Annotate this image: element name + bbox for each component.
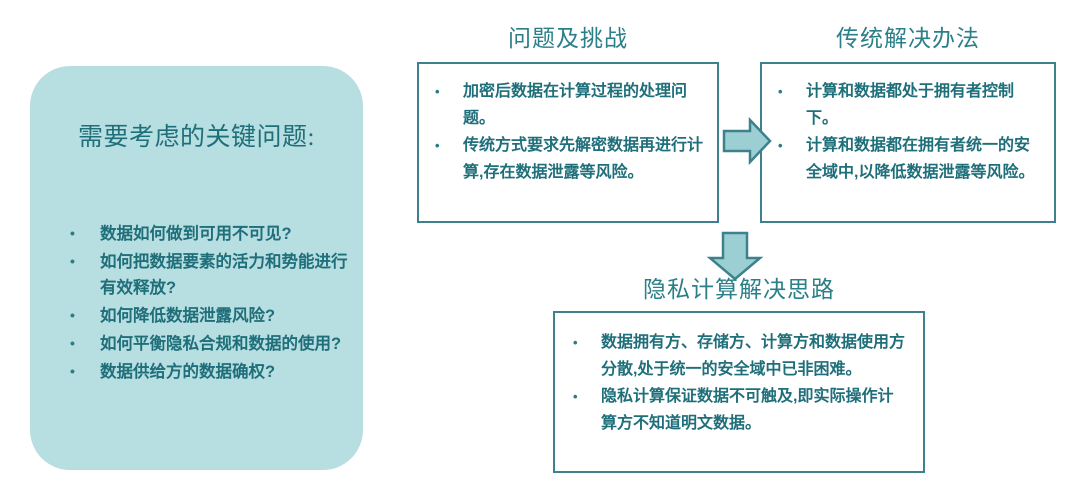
privacy-box-heading: 隐私计算解决思路 [553,275,925,305]
traditional-box-heading: 传统解决办法 [760,24,1056,54]
traditional-box: 计算和数据都处于拥有者控制下。 计算和数据都在拥有者统一的安全域中,以降低数据泄… [760,62,1056,223]
problem-box-heading: 问题及挑战 [417,24,719,54]
list-item: 计算和数据都在拥有者统一的安全域中,以降低数据泄露等风险。 [772,132,1042,186]
privacy-box: 数据拥有方、存储方、计算方和数据使用方分散,处于统一的安全域中已非困难。 隐私计… [553,311,925,473]
list-item: 加密后数据在计算过程的处理问题。 [429,78,705,132]
list-item: 数据拥有方、存储方、计算方和数据使用方分散,处于统一的安全域中已非困难。 [567,329,909,383]
key-questions-panel: 需要考虑的关键问题: 数据如何做到可用不可见? 如何把数据要素的活力和势能进行有… [30,66,363,470]
list-item: 数据供给方的数据确权? [68,359,353,385]
list-item: 隐私计算保证数据不可触及,即实际操作计算方不知道明文数据。 [567,383,909,437]
list-item: 数据如何做到可用不可见? [68,221,353,247]
key-questions-title: 需要考虑的关键问题: [30,122,363,154]
traditional-list: 计算和数据都处于拥有者控制下。 计算和数据都在拥有者统一的安全域中,以降低数据泄… [772,78,1042,186]
list-item: 如何把数据要素的活力和势能进行有效释放? [68,249,353,301]
list-item: 如何平衡隐私合规和数据的使用? [68,331,353,357]
key-questions-list: 数据如何做到可用不可见? 如何把数据要素的活力和势能进行有效释放? 如何降低数据… [68,221,353,387]
slide-canvas: 需要考虑的关键问题: 数据如何做到可用不可见? 如何把数据要素的活力和势能进行有… [0,0,1080,500]
arrow-down-icon [706,231,764,281]
list-item: 计算和数据都处于拥有者控制下。 [772,78,1042,132]
problem-box: 加密后数据在计算过程的处理问题。 传统方式要求先解密数据再进行计算,存在数据泄露… [417,62,719,223]
privacy-list: 数据拥有方、存储方、计算方和数据使用方分散,处于统一的安全域中已非困难。 隐私计… [567,329,909,437]
list-item: 如何降低数据泄露风险? [68,303,353,329]
list-item: 传统方式要求先解密数据再进行计算,存在数据泄露等风险。 [429,132,705,186]
problem-list: 加密后数据在计算过程的处理问题。 传统方式要求先解密数据再进行计算,存在数据泄露… [429,78,705,186]
arrow-right-icon [722,117,772,165]
